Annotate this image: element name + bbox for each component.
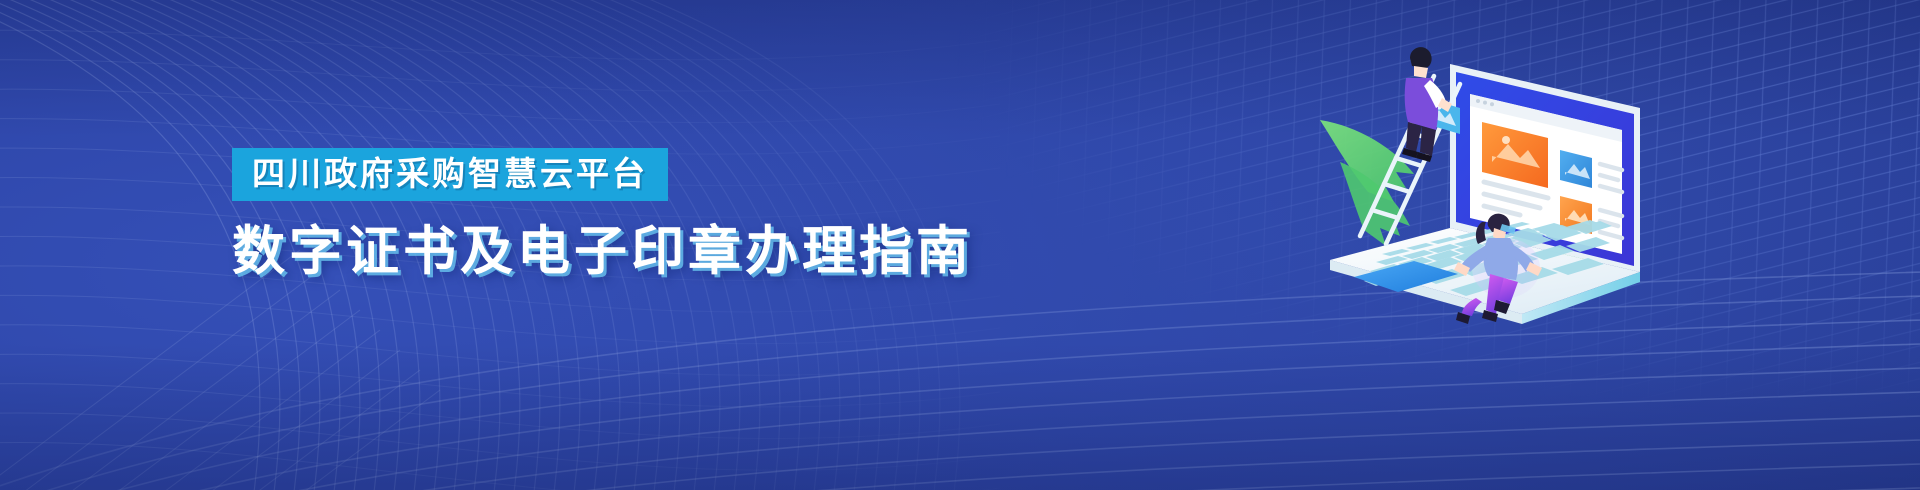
isometric-laptop-illustration	[1310, 22, 1690, 392]
platform-badge: 四川政府采购智慧云平台	[232, 148, 668, 201]
banner-text-block: 四川政府采购智慧云平台 数字证书及电子印章办理指南	[232, 148, 952, 280]
banner-title: 数字证书及电子印章办理指南	[232, 223, 952, 280]
platform-badge-label: 四川政府采购智慧云平台	[252, 157, 648, 190]
person-on-ladder	[1402, 47, 1452, 162]
promo-banner: 四川政府采购智慧云平台 数字证书及电子印章办理指南	[0, 0, 1920, 490]
